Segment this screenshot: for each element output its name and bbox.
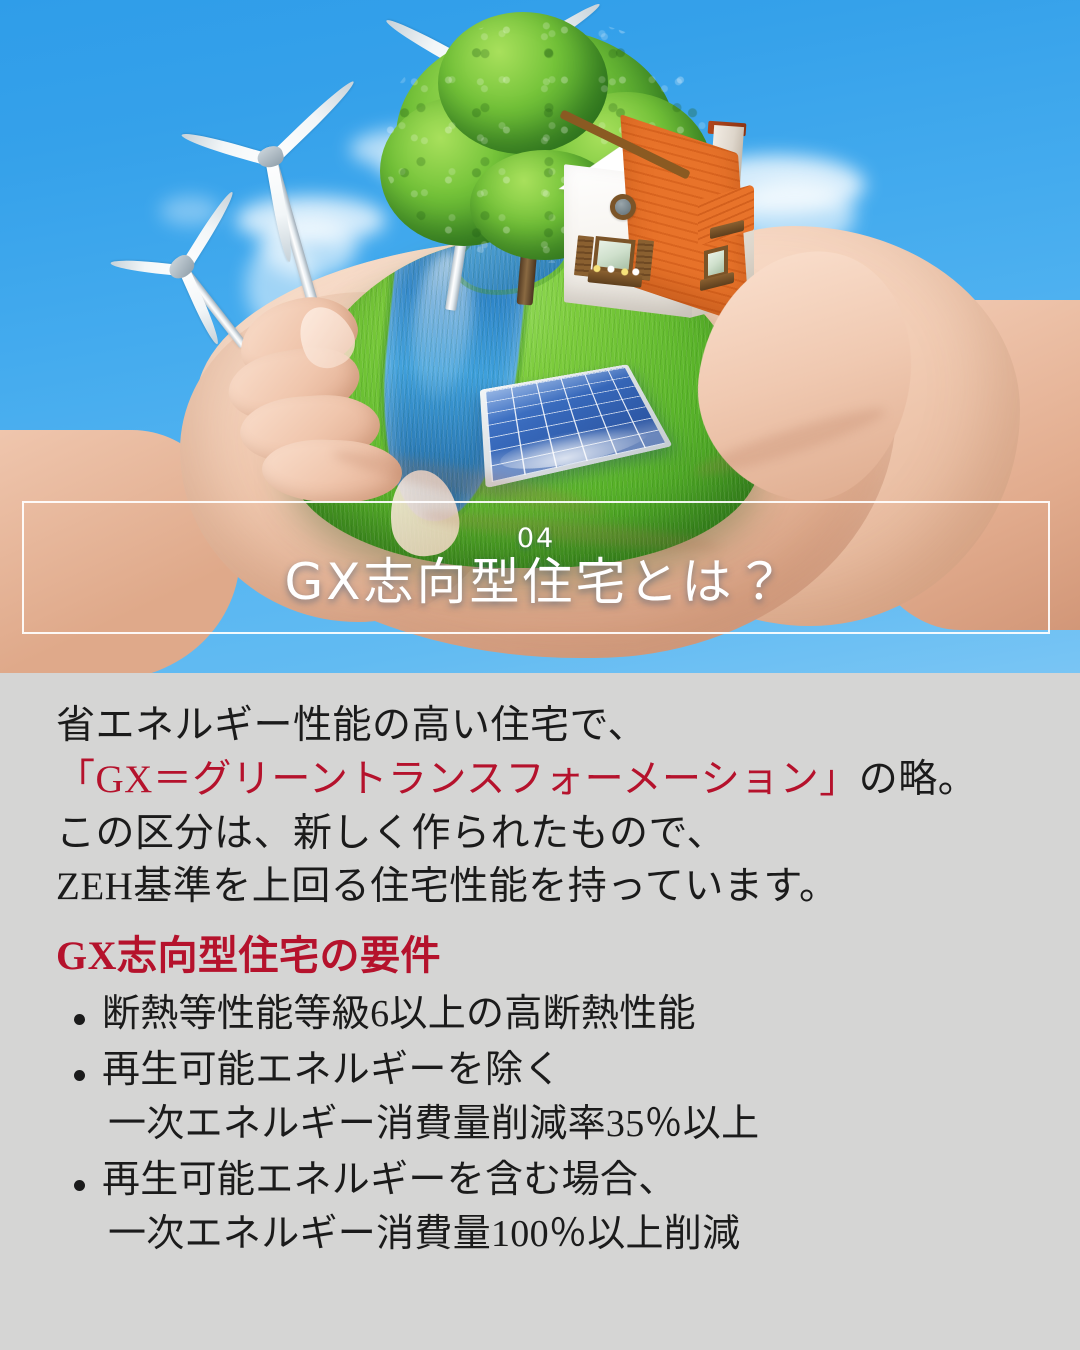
accent-text: 「GX＝グリーントランスフォーメーション」	[56, 758, 859, 801]
requirement-line-1: 断熱等性能等級6以上の高断熱性能	[102, 993, 696, 1035]
requirement-line-1: 再生可能エネルギーを除く	[102, 1049, 562, 1091]
list-item: 断熱等性能等級6以上の高断熱性能	[56, 988, 1040, 1042]
list-item: 再生可能エネルギーを含む場合、 一次エネルギー消費量100％以上削減	[56, 1154, 1040, 1262]
requirement-line-2: 一次エネルギー消費量100％以上削減	[102, 1208, 1040, 1262]
infographic-page: 04 GX志向型住宅とは？ 省エネルギー性能の高い住宅で、 「GX＝グリーントラ…	[0, 0, 1080, 1350]
content-section: 省エネルギー性能の高い住宅で、 「GX＝グリーントランスフォーメーション」の略。…	[0, 673, 1080, 1350]
house-icon	[548, 120, 763, 320]
requirements-heading: GX志向型住宅の要件	[56, 932, 1040, 980]
requirements-list: 断熱等性能等級6以上の高断熱性能 再生可能エネルギーを除く 一次エネルギー消費量…	[56, 988, 1040, 1262]
lede-line-3: この区分は、新しく作られたもので、	[56, 807, 1040, 861]
requirement-line-1: 再生可能エネルギーを含む場合、	[102, 1159, 677, 1201]
lede-line-4: ZEH基準を上回る住宅性能を持っています。	[56, 860, 1040, 914]
requirement-line-2: 一次エネルギー消費量削減率35％以上	[102, 1098, 1040, 1152]
lede-line-1: 省エネルギー性能の高い住宅で、	[56, 699, 1040, 753]
lede-line-2-suffix: の略。	[859, 758, 978, 801]
lede-paragraph: 省エネルギー性能の高い住宅で、 「GX＝グリーントランスフォーメーション」の略。…	[56, 699, 1040, 914]
title-banner: 04 GX志向型住宅とは？	[22, 501, 1050, 634]
list-item: 再生可能エネルギーを除く 一次エネルギー消費量削減率35％以上	[56, 1044, 1040, 1152]
hero-section: 04 GX志向型住宅とは？	[0, 0, 1080, 673]
lede-line-2: 「GX＝グリーントランスフォーメーション」の略。	[56, 753, 1040, 807]
page-title: GX志向型住宅とは？	[285, 554, 788, 610]
section-number: 04	[517, 525, 555, 552]
